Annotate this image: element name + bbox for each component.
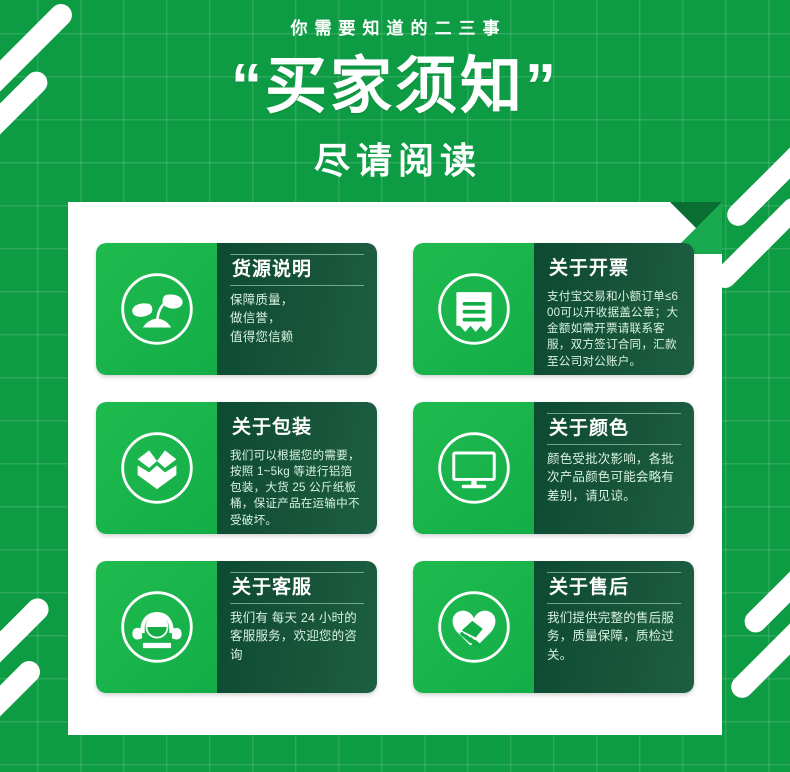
page-subtitle: 尽请阅读 xyxy=(0,132,790,184)
card-icon-panel xyxy=(413,561,534,693)
card-body: 关于售后 我们提供完整的售后服务，质量保障，质检过关。 xyxy=(534,561,694,693)
info-card-supply[interactable]: 货源说明 保障质量， 做信誉， 值得您信赖 xyxy=(96,243,377,375)
decorative-stripe xyxy=(740,545,790,637)
card-icon-panel xyxy=(413,402,534,534)
sprout-icon xyxy=(113,265,201,353)
header-kicker: 你需要知道的二三事 xyxy=(0,0,790,39)
info-card-invoice[interactable]: 关于开票 支付宝交易和小额订单≤600可以开收据盖公章；大金额如需开票请联系客服… xyxy=(413,243,694,375)
quote-open: “ xyxy=(231,52,265,121)
card-icon-panel xyxy=(96,243,217,375)
open-box-icon xyxy=(113,424,201,512)
page-title: “买家须知” xyxy=(0,55,790,118)
handshake-heart-icon xyxy=(430,583,518,671)
info-card-customer-service[interactable]: 关于客服 我们有 每天 24 小时的客服服务，欢迎您的咨询 xyxy=(96,561,377,693)
card-body: 关于客服 我们有 每天 24 小时的客服服务，欢迎您的咨询 xyxy=(217,561,377,693)
info-card-color[interactable]: 关于颜色 颜色受批次影响，各批次产品颜色可能会略有差别，请见谅。 xyxy=(413,402,694,534)
card-title: 关于客服 xyxy=(230,573,364,603)
info-card-after-sales[interactable]: 关于售后 我们提供完整的售后服务，质量保障，质检过关。 xyxy=(413,561,694,693)
page-title-text: 买家须知 xyxy=(265,52,525,121)
card-title: 关于颜色 xyxy=(547,414,681,444)
card-text: 我们有 每天 24 小时的客服服务，欢迎您的咨询 xyxy=(230,604,364,665)
monitor-icon xyxy=(430,424,518,512)
card-title: 关于售后 xyxy=(547,573,681,603)
card-text: 颜色受批次影响，各批次产品颜色可能会略有差别，请见谅。 xyxy=(547,445,681,506)
card-text: 支付宝交易和小额订单≤600可以开收据盖公章；大金额如需开票请联系客服，双方签订… xyxy=(547,284,681,370)
poster-header: 你需要知道的二三事 “买家须知” 尽请阅读 xyxy=(0,0,790,184)
card-body: 关于包装 我们可以根据您的需要，按照 1~5kg 等进行铝箔包装，大货 25 公… xyxy=(217,402,377,534)
info-card-packaging[interactable]: 关于包装 我们可以根据您的需要，按照 1~5kg 等进行铝箔包装，大货 25 公… xyxy=(96,402,377,534)
card-title: 关于包装 xyxy=(230,413,364,443)
receipt-icon xyxy=(430,265,518,353)
card-body: 关于开票 支付宝交易和小额订单≤600可以开收据盖公章；大金额如需开票请联系客服… xyxy=(534,243,694,375)
poster-root: 你需要知道的二三事 “买家须知” 尽请阅读 货源说明 保障 xyxy=(0,0,790,772)
headset-icon xyxy=(113,583,201,671)
decorative-stripe xyxy=(0,656,45,745)
card-icon-panel xyxy=(96,561,217,693)
card-body: 货源说明 保障质量， 做信誉， 值得您信赖 xyxy=(217,243,377,375)
card-title: 关于开票 xyxy=(547,254,681,284)
quote-close: ” xyxy=(525,52,559,121)
card-text: 我们提供完整的售后服务，质量保障，质检过关。 xyxy=(547,604,681,665)
card-icon-panel xyxy=(96,402,217,534)
card-icon-panel xyxy=(413,243,534,375)
card-body: 关于颜色 颜色受批次影响，各批次产品颜色可能会略有差别，请见谅。 xyxy=(534,402,694,534)
card-text: 我们可以根据您的需要，按照 1~5kg 等进行铝箔包装，大货 25 公斤纸板桶，… xyxy=(230,443,364,529)
info-card-grid: 货源说明 保障质量， 做信誉， 值得您信赖 关于开票 xyxy=(96,243,694,693)
card-text: 保障质量， 做信誉， 值得您信赖 xyxy=(230,286,364,347)
card-title: 货源说明 xyxy=(230,255,364,285)
